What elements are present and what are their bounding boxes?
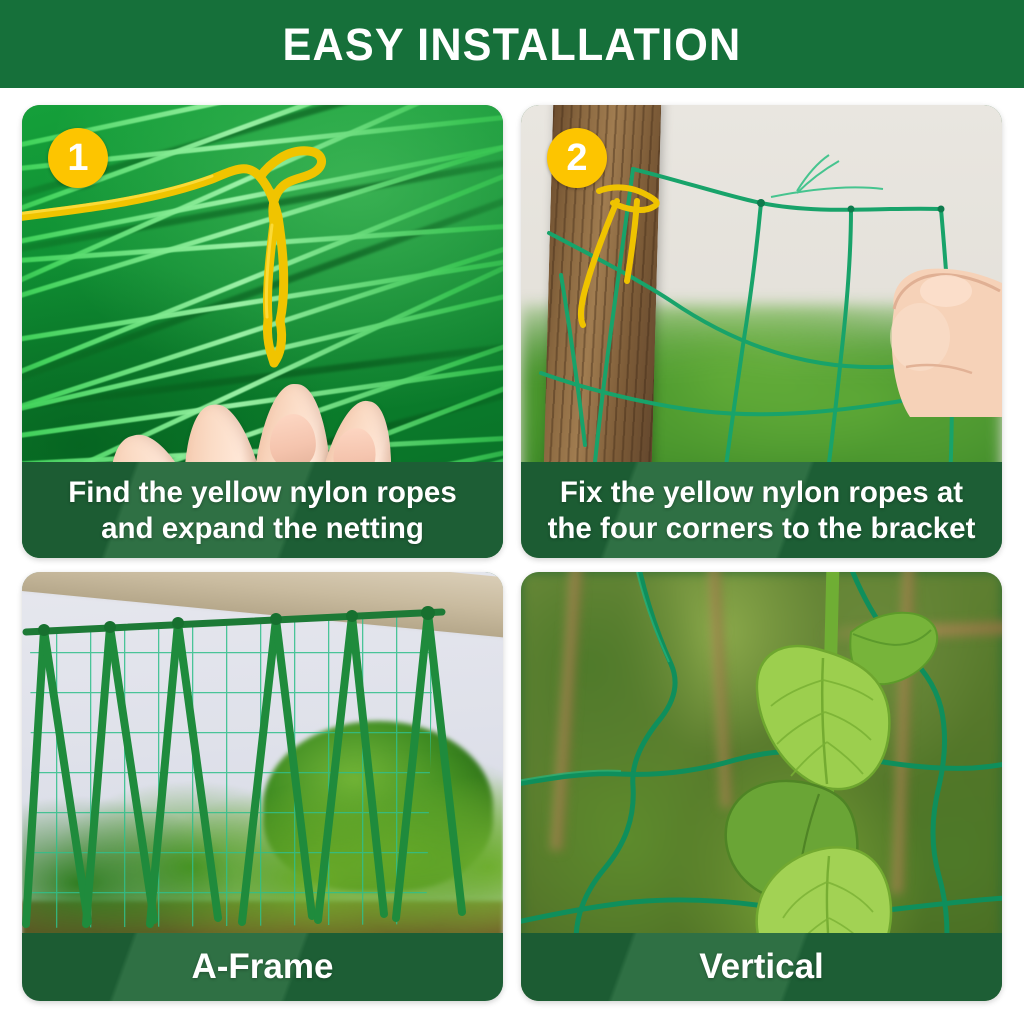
step-number-badge-2: 2	[547, 128, 607, 188]
caption-line: the four corners to the bracket	[521, 511, 1002, 547]
caption-line: Fix the yellow nylon ropes at	[521, 475, 1002, 511]
panel-grid: 1 Find the yellow nylon ropes and expand…	[22, 105, 1002, 1001]
caption-line: and expand the netting	[22, 511, 503, 547]
caption-step-2: Fix the yellow nylon ropes at the four c…	[521, 462, 1002, 558]
hand-pulling-net	[850, 217, 1002, 417]
panel-use-vertical[interactable]: Vertical	[521, 572, 1002, 1001]
step-number-badge-1: 1	[48, 128, 108, 188]
caption-vertical: Vertical	[521, 933, 1002, 1001]
caption-line: Find the yellow nylon ropes	[22, 475, 503, 511]
caption-step-1: Find the yellow nylon ropes and expand t…	[22, 462, 503, 558]
panel-step-2[interactable]: 2 Fix the yellow nylon ropes at the four…	[521, 105, 1002, 558]
panel-step-1[interactable]: 1 Find the yellow nylon ropes and expand…	[22, 105, 503, 558]
caption-line: Vertical	[521, 945, 1002, 989]
header-bar: EASY INSTALLATION	[0, 0, 1024, 88]
caption-a-frame: A-Frame	[22, 933, 503, 1001]
page-title: EASY INSTALLATION	[283, 22, 742, 67]
panel-use-a-frame[interactable]: A-Frame	[22, 572, 503, 1001]
easy-installation-poster: EASY INSTALLATION	[0, 0, 1024, 1024]
caption-line: A-Frame	[22, 945, 503, 989]
